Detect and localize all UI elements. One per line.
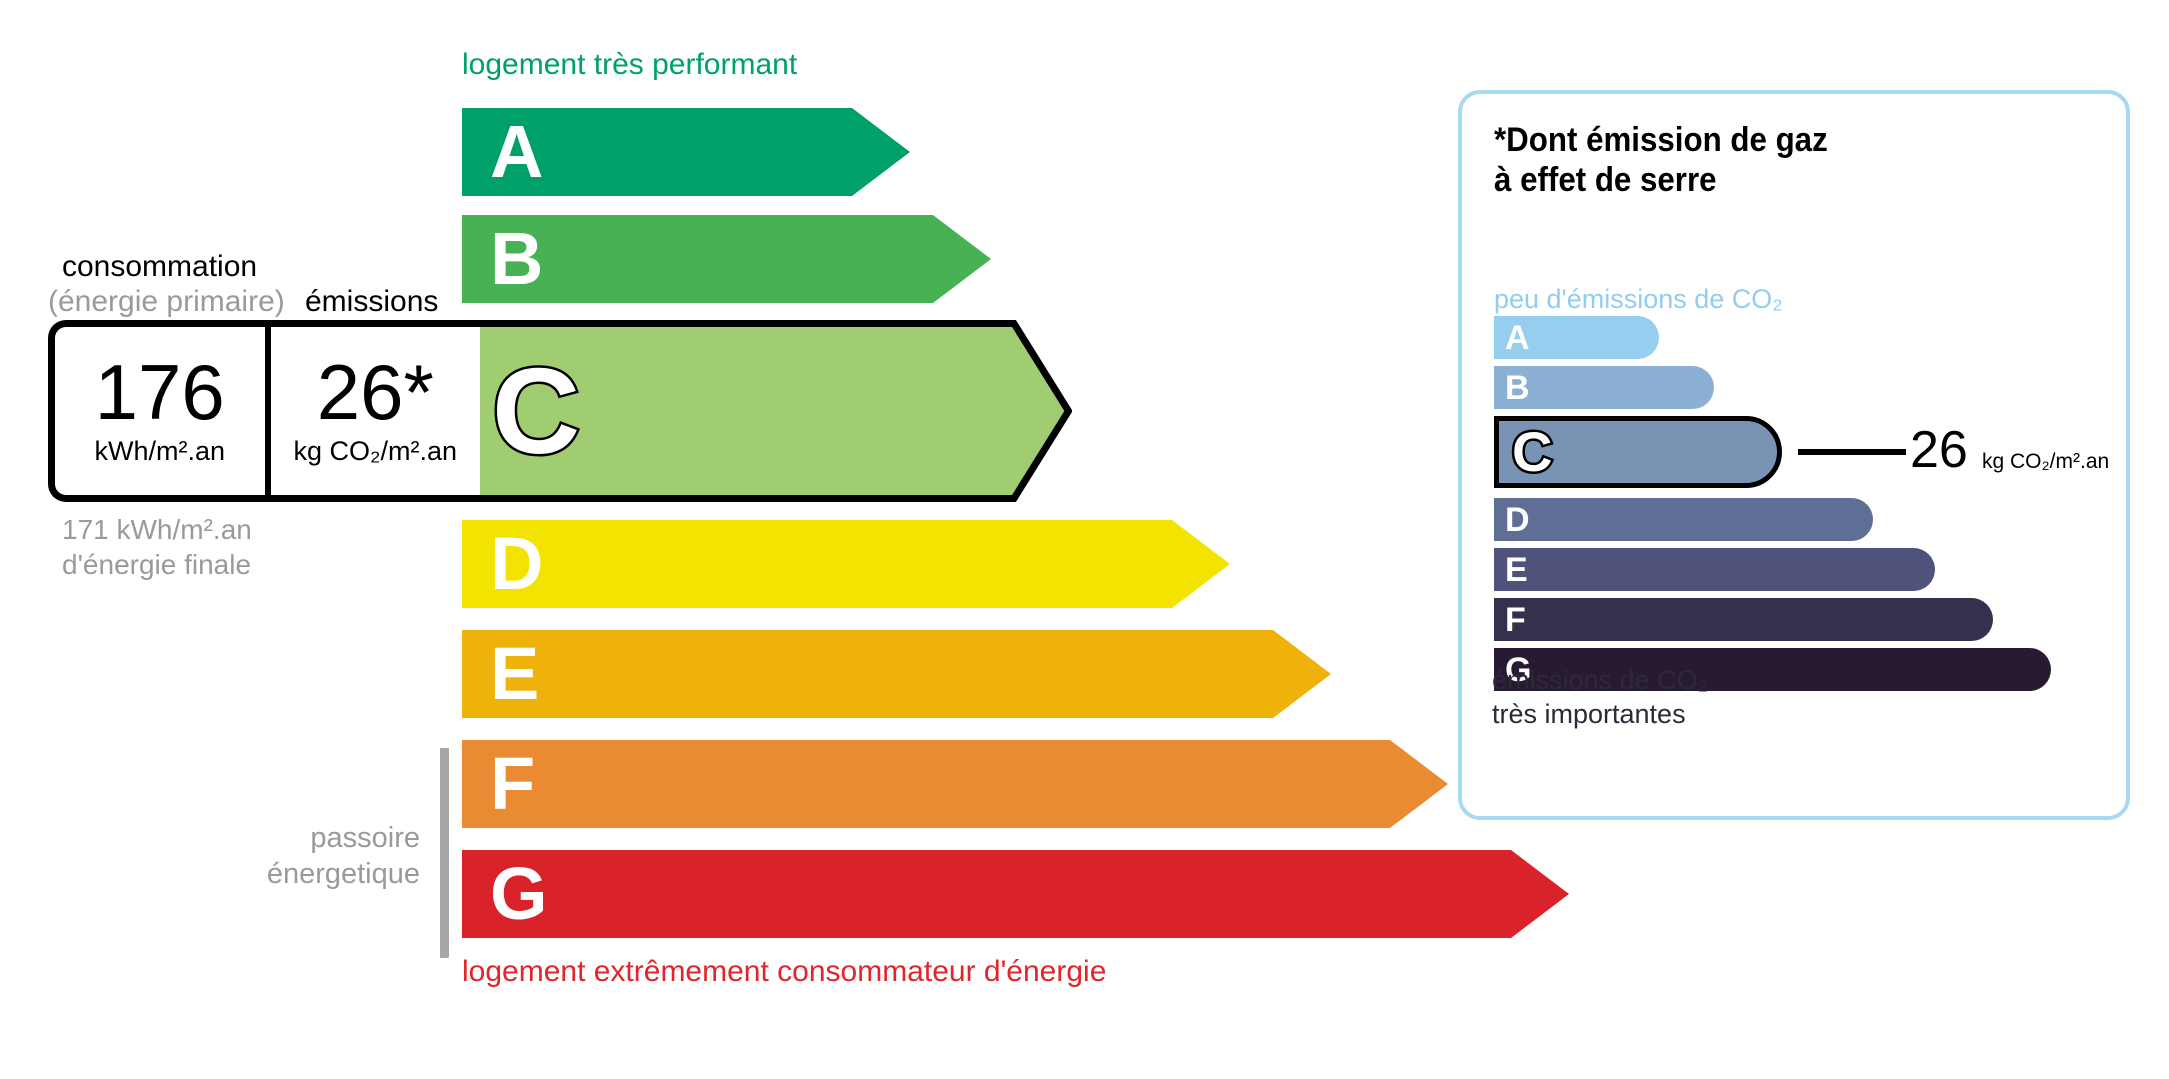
energy-performance-panel: logement très performant A B C D E F G l… bbox=[0, 0, 1400, 1079]
energy-band-b[interactable]: B bbox=[462, 215, 991, 303]
co2-bar-d: D bbox=[1494, 498, 1873, 541]
emission-cell: 26* kg CO₂/m².an bbox=[271, 327, 481, 495]
energy-band-d[interactable]: D bbox=[462, 520, 1230, 608]
co2-letter-f: F bbox=[1505, 603, 1526, 637]
label-passoire-energetique: passoireénergetique bbox=[180, 820, 420, 893]
co2-band-e[interactable]: E bbox=[1494, 548, 1935, 591]
consumption-value-box: 176 kWh/m².an 26* kg CO₂/m².an bbox=[48, 320, 480, 502]
energy-band-g[interactable]: G bbox=[462, 850, 1569, 938]
label-energie-finale: 171 kWh/m².and'énergie finale bbox=[62, 512, 252, 582]
co2-bar-b: B bbox=[1494, 366, 1714, 409]
energy-letter-a: A bbox=[490, 115, 543, 189]
energy-top-caption: logement très performant bbox=[462, 48, 797, 82]
co2-bar-f: F bbox=[1494, 598, 1993, 641]
emission-unit: kg CO₂/m².an bbox=[293, 436, 457, 467]
co2-letter-c: C bbox=[1512, 424, 1552, 480]
label-emissions: émissions bbox=[305, 285, 438, 319]
co2-callout-unit: kg CO₂/m².an bbox=[1982, 450, 2109, 474]
energy-bottom-caption: logement extrêmement consommateur d'éner… bbox=[462, 955, 1106, 989]
label-energie-primaire: (énergie primaire) bbox=[48, 285, 285, 319]
co2-band-d[interactable]: D bbox=[1494, 498, 1873, 541]
energy-band-a[interactable]: A bbox=[462, 108, 910, 196]
co2-bar-a: A bbox=[1494, 316, 1659, 359]
label-consommation: consommation bbox=[62, 250, 257, 284]
energy-letter-b: B bbox=[490, 222, 543, 296]
energy-arrow-e bbox=[462, 630, 1331, 718]
co2-top-caption: peu d'émissions de CO₂ bbox=[1494, 284, 1783, 315]
co2-panel-title: *Dont émission de gazà effet de serre bbox=[1494, 120, 1828, 200]
co2-band-a[interactable]: A bbox=[1494, 316, 1659, 359]
co2-letter-a: A bbox=[1505, 321, 1530, 355]
energy-band-c-selected[interactable]: C bbox=[462, 320, 1072, 502]
co2-band-c-selected[interactable]: C bbox=[1494, 416, 1782, 488]
energy-letter-g: G bbox=[490, 857, 548, 931]
energy-band-f[interactable]: F bbox=[462, 740, 1448, 828]
emission-value: 26* bbox=[317, 355, 434, 429]
primary-energy-cell: 176 kWh/m².an bbox=[55, 327, 271, 495]
energy-band-e[interactable]: E bbox=[462, 630, 1331, 718]
co2-bar-e: E bbox=[1494, 548, 1935, 591]
energy-letter-f: F bbox=[490, 747, 535, 821]
co2-emissions-panel: *Dont émission de gazà effet de serre pe… bbox=[1458, 90, 2130, 820]
co2-band-b[interactable]: B bbox=[1494, 366, 1714, 409]
passoire-marker-line bbox=[440, 748, 449, 958]
co2-band-f[interactable]: F bbox=[1494, 598, 1993, 641]
co2-letter-d: D bbox=[1505, 503, 1530, 537]
energy-letter-c: C bbox=[492, 350, 580, 472]
co2-bar-c: C bbox=[1494, 416, 1782, 488]
energy-letter-e: E bbox=[490, 637, 539, 711]
primary-energy-value: 176 bbox=[95, 355, 225, 429]
energy-arrow-g bbox=[462, 850, 1569, 938]
co2-callout-leader-line bbox=[1798, 449, 1906, 455]
co2-letter-e: E bbox=[1505, 553, 1528, 587]
primary-energy-unit: kWh/m².an bbox=[94, 436, 225, 467]
energy-letter-d: D bbox=[490, 527, 543, 601]
co2-bottom-caption: émissions de CO₂très importantes bbox=[1492, 664, 1708, 732]
energy-arrow-f bbox=[462, 740, 1448, 828]
energy-arrow-d bbox=[462, 520, 1230, 608]
co2-letter-b: B bbox=[1505, 371, 1530, 405]
co2-callout-value: 26 bbox=[1910, 424, 1968, 476]
